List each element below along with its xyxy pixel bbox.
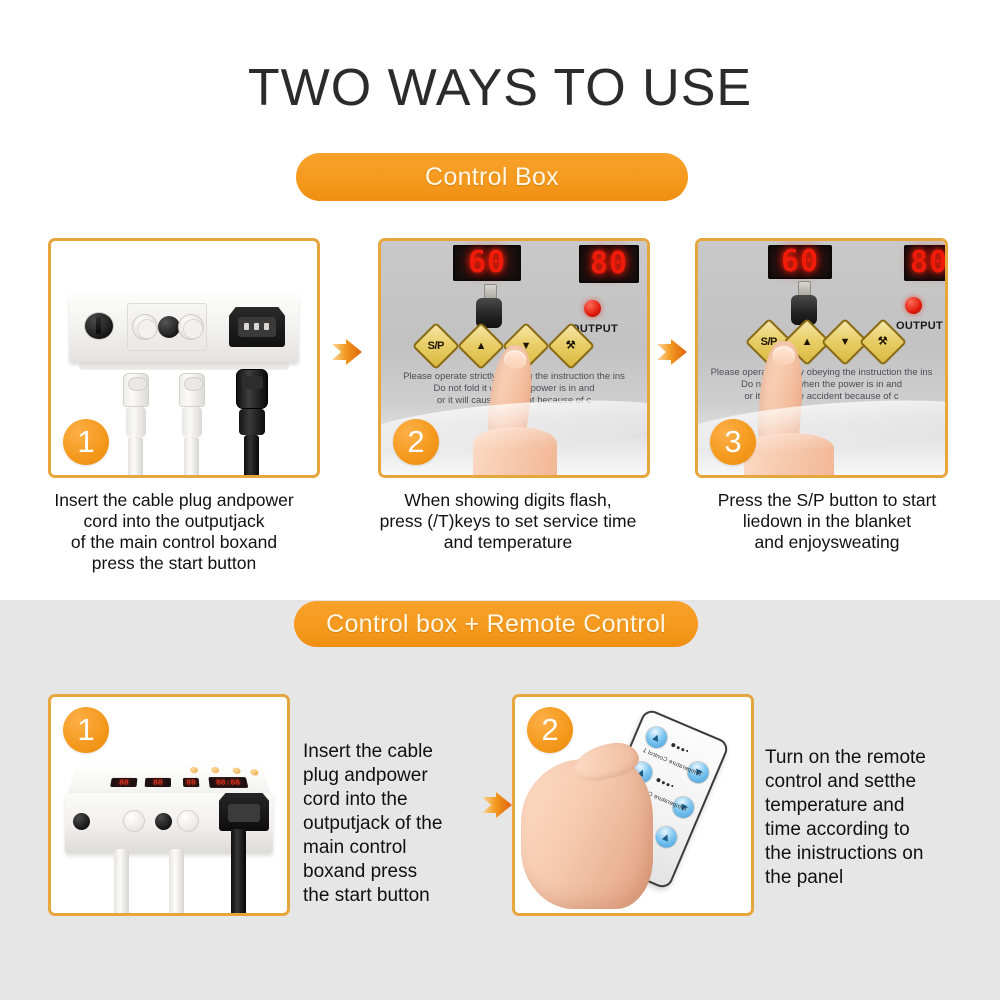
cable-wire-white-1 — [114, 849, 129, 916]
caption-step-3: Press the S/P button to start liedown in… — [682, 490, 972, 553]
step-badge-1: 1 — [63, 419, 109, 465]
temperature-display: 80 — [579, 245, 639, 283]
din-port-right-icon — [178, 314, 204, 340]
panel-warning-text: Please operate strictly obeying the inst… — [698, 367, 945, 403]
cable-white-1 — [123, 373, 145, 478]
power-cord-plug-body — [239, 409, 265, 435]
fingernail — [503, 349, 527, 370]
power-cord-wire-black — [231, 829, 246, 916]
output-label: OUTPUT — [896, 320, 943, 332]
hand — [744, 433, 834, 478]
power-switch-icon — [85, 313, 113, 339]
iec-pin — [244, 323, 249, 330]
port-recess — [127, 303, 207, 351]
hand-holding-remote — [521, 759, 653, 909]
panel-bottom-step-1: 88 88 88 88:88 — [48, 694, 290, 916]
temperature-display-value: 80 — [910, 248, 948, 278]
iec-pin — [264, 323, 269, 330]
panel-step-3: 60 80 OUTPUT S/P ▲ ▼ ⚒ Please operate st… — [695, 238, 948, 478]
banner-control-box-remote-label: Control box + Remote Control — [326, 610, 666, 639]
level-button[interactable]: ▲ — [651, 822, 681, 852]
indicator-icon — [211, 767, 220, 773]
dots-row-1 — [671, 742, 689, 753]
step-badge-bottom-1: 1 — [63, 707, 109, 753]
cable-plug-head — [123, 373, 149, 407]
display-2-value: 88 — [153, 779, 163, 786]
cable-plug-body — [126, 407, 146, 437]
caption-step-2: When showing digits flash, press (/T)key… — [348, 490, 668, 553]
caption-bottom-step-2: Turn on the remote control and setthe te… — [765, 746, 970, 890]
banner-control-box: Control Box — [296, 153, 688, 201]
indicator-icon — [190, 767, 198, 773]
power-switch-icon — [73, 813, 90, 830]
time-display-value: 60 — [781, 247, 819, 277]
arrow-right-icon — [655, 337, 689, 367]
output-indicator-led — [905, 297, 922, 314]
up-button-label: ▲ — [476, 340, 486, 351]
iec-pin — [254, 323, 259, 330]
display-4-value: 88:88 — [216, 779, 241, 786]
power-cord-black — [236, 369, 258, 478]
temperature-display-value: 80 — [590, 249, 628, 279]
cable-wire-white-2 — [169, 849, 184, 916]
fingernail — [772, 345, 795, 364]
display-1: 88 — [110, 778, 137, 787]
indicator-icon — [232, 768, 241, 774]
display-2: 88 — [145, 778, 171, 787]
output-indicator-led — [584, 300, 601, 317]
arrow-right-icon — [480, 790, 514, 820]
sp-button[interactable]: S/P — [412, 322, 460, 370]
temperature-display: 80 — [904, 245, 948, 281]
time-display: 60 — [768, 245, 832, 279]
cable-wire — [128, 437, 143, 478]
display-4: 88:88 — [208, 777, 248, 788]
wrench-button-label: ⚒ — [878, 337, 887, 348]
caption-step-1: Insert the cable plug andpower cord into… — [16, 490, 332, 574]
hand — [473, 427, 557, 478]
display-1-value: 88 — [119, 779, 130, 786]
step-badge-bottom-2: 2 — [527, 707, 573, 753]
power-cord-wire — [244, 435, 259, 478]
control-box-rear-body — [69, 293, 299, 363]
power-cord-plug-head — [236, 369, 268, 409]
center-knob-icon — [155, 813, 172, 830]
cable-wire — [184, 437, 199, 478]
time-display-value: 60 — [468, 248, 506, 278]
cable-plug-head — [179, 373, 205, 407]
iec-inlet-icon — [229, 307, 285, 347]
panel-step-1: 1 — [48, 238, 320, 478]
step-badge-2: 2 — [393, 419, 439, 465]
page-title: TWO WAYS TO USE — [0, 58, 1000, 118]
banner-control-box-remote: Control box + Remote Control — [294, 601, 698, 647]
level-button-label: ▲ — [659, 830, 674, 845]
iec-inlet-icon — [219, 793, 269, 831]
up-button-label: ▲ — [802, 336, 812, 347]
step-badge-3: 3 — [710, 419, 756, 465]
infographic-page: TWO WAYS TO USE Control Box — [0, 0, 1000, 1000]
wrench-button-label: ⚒ — [566, 341, 575, 352]
sp-button-label: S/P — [428, 340, 444, 351]
display-3-value: 88 — [186, 779, 196, 786]
panel-bottom-step-2: ▲ ▼ Temperature Control 1 ▲ ▼ Te — [512, 694, 754, 916]
display-3: 88 — [183, 778, 200, 787]
cable-white-2 — [179, 373, 201, 478]
caption-bottom-step-1: Insert the cable plug andpower cord into… — [303, 740, 488, 908]
temp-up-button-label: ▲ — [649, 730, 664, 745]
time-display: 60 — [453, 245, 521, 281]
cable-plug-body — [182, 407, 202, 437]
down-button-label: ▼ — [840, 336, 850, 347]
dots-row-2 — [656, 777, 674, 788]
din-port-left-icon — [132, 314, 158, 340]
arrow-right-icon — [330, 337, 364, 367]
banner-control-box-label: Control Box — [425, 163, 559, 192]
din-port-right-icon — [177, 810, 199, 832]
center-knob-icon — [158, 316, 180, 338]
indicator-icon — [250, 769, 259, 775]
din-port-left-icon — [123, 810, 145, 832]
panel-step-2: 60 80 OUTPUT S/P ▲ ▼ ⚒ Please operate st… — [378, 238, 650, 478]
